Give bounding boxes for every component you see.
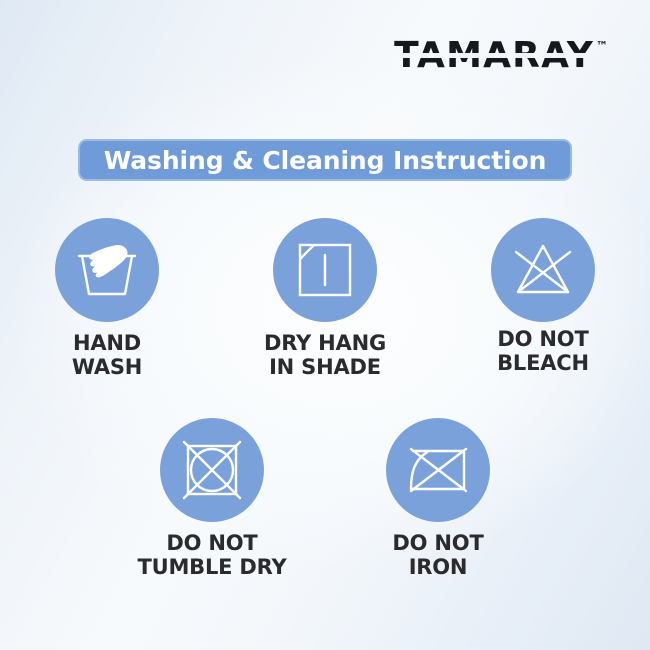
do-not-iron-icon-circle bbox=[386, 418, 490, 522]
care-label: DO NOT TUMBLE DRY bbox=[138, 532, 287, 579]
dry-hang-in-shade-icon-circle bbox=[273, 218, 377, 322]
care-row-1: HAND WASH DRY HANG IN SHADE bbox=[0, 218, 650, 379]
brand-logo: TAMARAY ™ bbox=[394, 38, 608, 74]
do-not-iron-icon bbox=[386, 418, 490, 522]
care-item-hand-wash: HAND WASH bbox=[25, 218, 189, 379]
brand-logo-text: TAMARAY bbox=[394, 38, 594, 74]
hand-wash-icon-circle bbox=[55, 218, 159, 322]
page-title-banner: Washing & Cleaning Instruction bbox=[78, 139, 572, 181]
care-label: DO NOT IRON bbox=[392, 532, 483, 579]
hand-wash-icon bbox=[55, 218, 159, 322]
care-item-dry-hang-in-shade: DRY HANG IN SHADE bbox=[243, 218, 407, 379]
care-label: DRY HANG IN SHADE bbox=[264, 332, 386, 379]
care-item-do-not-tumble-dry: DO NOT TUMBLE DRY bbox=[130, 418, 294, 579]
care-row-2: DO NOT TUMBLE DRY DO NOT IRON bbox=[0, 418, 650, 579]
do-not-tumble-dry-icon bbox=[160, 418, 264, 522]
care-item-do-not-bleach: DO NOT BLEACH bbox=[461, 218, 625, 379]
care-label: DO NOT BLEACH bbox=[497, 328, 589, 375]
do-not-bleach-icon-circle bbox=[491, 218, 595, 322]
care-label: HAND WASH bbox=[72, 332, 142, 379]
washing-instruction-card: TAMARAY ™ Washing & Cleaning Instruction… bbox=[0, 0, 650, 650]
care-item-do-not-iron: DO NOT IRON bbox=[356, 418, 520, 579]
do-not-bleach-icon bbox=[491, 218, 595, 322]
do-not-tumble-dry-icon-circle bbox=[160, 418, 264, 522]
trademark-icon: ™ bbox=[596, 40, 608, 52]
page-title: Washing & Cleaning Instruction bbox=[104, 146, 547, 175]
dry-hang-in-shade-icon bbox=[273, 218, 377, 322]
